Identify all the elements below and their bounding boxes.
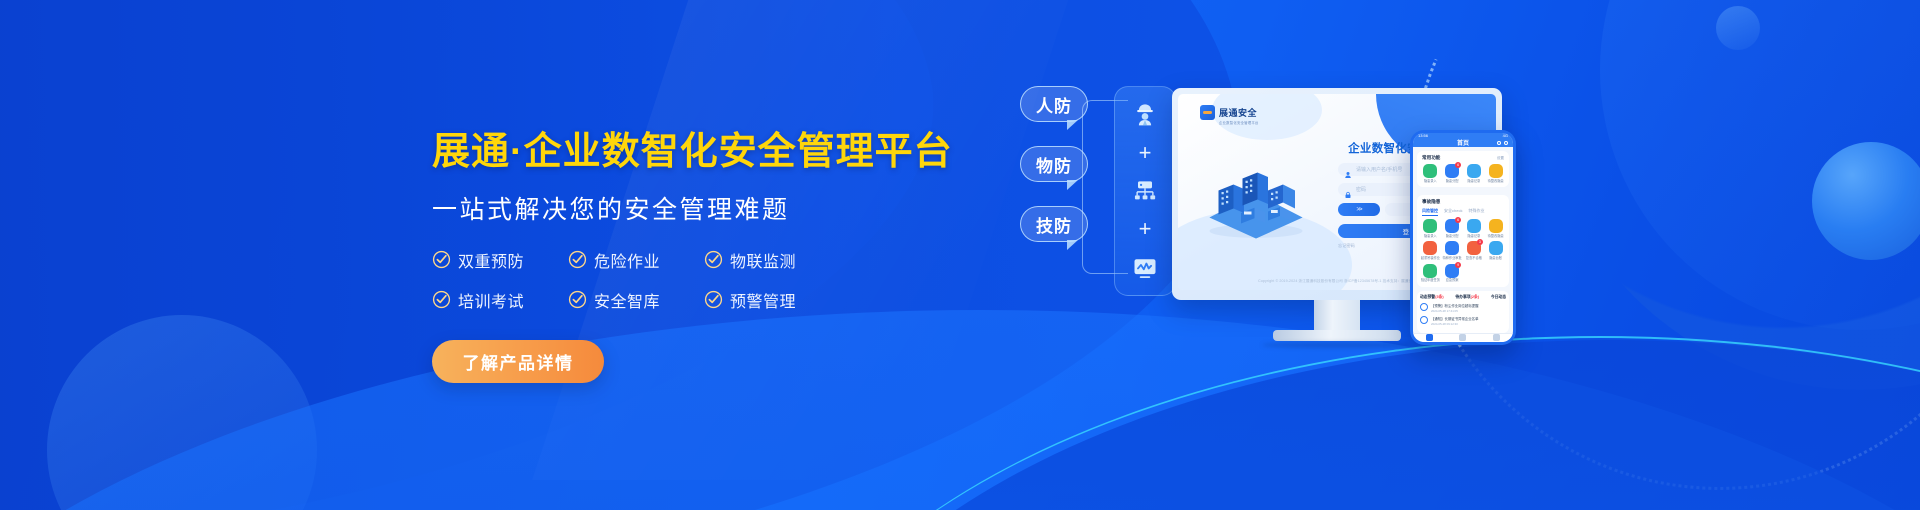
activity-list-card: 动态预警(3条) 待办事项(2条) 今日动态 【预警】粉尘作业岗位超标提醒 20… bbox=[1417, 291, 1509, 333]
feature-label: 物联监测 bbox=[730, 248, 796, 272]
learn-more-button[interactable]: 了解产品详情 bbox=[432, 340, 604, 383]
phone-nav-title: 首页 bbox=[1457, 138, 1469, 147]
app-item-label: 复查不合格 bbox=[1466, 257, 1482, 261]
activity-tab-todo[interactable]: 待办事项(2条) bbox=[1455, 295, 1479, 300]
lock-icon bbox=[1344, 186, 1352, 194]
hero-title: 展通·企业数智化安全管理平台 bbox=[432, 132, 972, 174]
monitor-base bbox=[1273, 330, 1401, 341]
pillar-plus-icon: + bbox=[1139, 142, 1152, 164]
hero-subtitle: 一站式解决您的安全管理难题 bbox=[432, 190, 972, 226]
app-item-label: 应急预案 bbox=[1446, 279, 1459, 283]
status-ring-icon bbox=[1420, 316, 1428, 324]
emergency-plan-icon: 9 bbox=[1445, 264, 1459, 278]
hazard-tabs: 风险管控 安全check 特殊作业 bbox=[1420, 208, 1506, 216]
crane-icon bbox=[1423, 241, 1437, 255]
feature-item: 双重预防 bbox=[432, 248, 560, 272]
feature-label: 培训考试 bbox=[458, 288, 524, 312]
app-grid-item[interactable]: 隐患录入 bbox=[1420, 219, 1441, 238]
tab-profile[interactable]: 我的 bbox=[1493, 334, 1500, 342]
app-grid-item[interactable]: 9 应急预案 bbox=[1442, 264, 1463, 283]
list-item-text: 【预警】粉尘作业岗位超标提醒 2024-05-28 17:41:05 bbox=[1431, 303, 1478, 313]
common-functions-header: 常用功能 设置 bbox=[1420, 155, 1506, 161]
hazard-title: 事故隐患 bbox=[1422, 199, 1440, 205]
app-grid-item[interactable]: 隐患台账 bbox=[1485, 241, 1506, 260]
pillar-icon-column: + + bbox=[1114, 86, 1176, 296]
app-item-label: 隐患台账 bbox=[1489, 257, 1502, 261]
phone-screen: 13:56 4G 首页 常用功能 设置 bbox=[1413, 133, 1513, 342]
edit-icon bbox=[1423, 219, 1437, 233]
recheck-icon: 3 bbox=[1467, 241, 1481, 255]
app-item-label: 隐患记录 bbox=[1468, 180, 1481, 184]
list-item-time: 2024-05-28 09:12:30 bbox=[1431, 322, 1478, 326]
feature-label: 危险作业 bbox=[594, 248, 660, 272]
warning-icon bbox=[1489, 219, 1503, 233]
tab-safety-check[interactable]: 安全check bbox=[1444, 208, 1462, 216]
app-grid-item[interactable]: 特种作业审批 bbox=[1442, 241, 1463, 260]
hero-banner: 展通·企业数智化安全管理平台 一站式解决您的安全管理难题 双重预防 危险作业 物… bbox=[0, 0, 1920, 510]
username-placeholder: 请输入用户名/手机号 bbox=[1356, 166, 1402, 173]
mobile-phone-mockup: 13:56 4G 首页 常用功能 设置 bbox=[1410, 130, 1516, 345]
list-item-title: 【预警】粉尘作业岗位超标提醒 bbox=[1431, 303, 1478, 308]
feature-item: 物联监测 bbox=[704, 248, 832, 272]
hazard-grid: 隐患录入 6 隐患分配 隐患记录 bbox=[1420, 219, 1506, 283]
phone-nav-actions[interactable] bbox=[1497, 141, 1508, 145]
list-item-time: 2024-05-28 17:41:05 bbox=[1431, 309, 1478, 313]
tab-message[interactable]: 消息 bbox=[1459, 334, 1466, 342]
app-grid-item[interactable]: 隐患记录 bbox=[1464, 219, 1485, 238]
platform-logo: 展通安全 企业数智化安全管理平台 bbox=[1200, 105, 1257, 120]
forgot-password-link[interactable]: 忘记密码 bbox=[1338, 243, 1355, 249]
app-grid-item[interactable]: 3 复查不合格 bbox=[1464, 241, 1485, 260]
app-item-label: 待整改隐患 bbox=[1488, 235, 1504, 239]
feature-label: 双重预防 bbox=[458, 248, 524, 272]
badge-count: 6 bbox=[1455, 217, 1461, 223]
logo-tagline: 企业数智化安全管理平台 bbox=[1219, 120, 1259, 125]
app-item-label: 隐患分配 bbox=[1446, 235, 1459, 239]
distribute-icon: 6 bbox=[1445, 164, 1459, 178]
app-item-label: 待整改隐患 bbox=[1488, 180, 1504, 184]
common-functions-grid: 隐患录入 6 隐患分配 隐患记录 bbox=[1420, 164, 1506, 183]
decorative-sphere-small bbox=[1716, 6, 1760, 50]
app-grid-item[interactable]: 验证年度任务 bbox=[1420, 264, 1441, 283]
app-item-label: 起重吊装作业 bbox=[1421, 257, 1440, 261]
app-item-label: 隐患录入 bbox=[1424, 235, 1437, 239]
hero-copy-block: 展通·企业数智化安全管理平台 一站式解决您的安全管理难题 双重预防 危险作业 物… bbox=[432, 132, 972, 383]
worker-helmet-icon bbox=[1128, 99, 1162, 129]
warning-icon bbox=[1489, 164, 1503, 178]
list-item[interactable]: 【预警】粉尘作业岗位超标提醒 2024-05-28 17:41:05 bbox=[1420, 303, 1506, 313]
tab-special-work[interactable]: 特殊作业 bbox=[1468, 208, 1484, 216]
app-item-label: 隐患记录 bbox=[1468, 235, 1481, 239]
app-grid-item[interactable]: 待整改隐患 bbox=[1485, 219, 1506, 238]
check-circle-icon bbox=[568, 250, 587, 269]
activity-tab-today[interactable]: 今日动态 bbox=[1491, 295, 1506, 300]
check-circle-icon bbox=[432, 250, 451, 269]
monitor-neck bbox=[1314, 300, 1360, 330]
app-item-label: 隐患录入 bbox=[1424, 180, 1437, 184]
check-circle-icon bbox=[432, 290, 451, 309]
logo-mark-icon bbox=[1200, 105, 1215, 120]
password-placeholder: 密码 bbox=[1356, 186, 1366, 193]
list-item[interactable]: 【通知】长期证书异常企业名单 2024-05-28 09:12:30 bbox=[1420, 316, 1506, 326]
list-item-title: 【通知】长期证书异常企业名单 bbox=[1431, 316, 1478, 321]
home-icon bbox=[1426, 334, 1433, 341]
verify-icon bbox=[1423, 264, 1437, 278]
user-icon bbox=[1344, 166, 1352, 174]
app-item-label: 特种作业审批 bbox=[1443, 257, 1462, 261]
pillar-label-wufang: 物防 bbox=[1020, 146, 1088, 182]
feature-item: 培训考试 bbox=[432, 288, 560, 312]
user-icon bbox=[1493, 334, 1500, 341]
common-functions-title: 常用功能 bbox=[1422, 155, 1440, 161]
app-grid-item[interactable]: 隐患记录 bbox=[1464, 164, 1485, 183]
captcha-slider-label: >> bbox=[1356, 207, 1361, 213]
status-ring-icon bbox=[1420, 303, 1428, 311]
record-icon bbox=[1467, 164, 1481, 178]
tab-risk-control[interactable]: 风险管控 bbox=[1422, 208, 1438, 216]
common-functions-card: 常用功能 设置 隐患录入 6 隐患分配 bbox=[1417, 151, 1509, 187]
app-grid-item[interactable]: 起重吊装作业 bbox=[1420, 241, 1441, 260]
distribute-icon: 6 bbox=[1445, 219, 1459, 233]
feature-list: 双重预防 危险作业 物联监测 培训考试 bbox=[432, 248, 972, 312]
feature-label: 预警管理 bbox=[730, 288, 796, 312]
gear-icon[interactable] bbox=[1504, 141, 1508, 145]
approval-icon bbox=[1445, 241, 1459, 255]
tab-home[interactable]: 首页 bbox=[1426, 334, 1433, 342]
app-grid-item[interactable]: 6 隐患分配 bbox=[1442, 164, 1463, 183]
phone-tab-bar: 首页 消息 我的 bbox=[1413, 333, 1513, 342]
pillar-label-renfang: 人防 bbox=[1020, 86, 1088, 122]
app-grid-item[interactable]: 6 隐患分配 bbox=[1442, 219, 1463, 238]
pillar-plus-icon-2: + bbox=[1139, 218, 1152, 240]
message-icon bbox=[1459, 334, 1466, 341]
phone-nav-bar: 首页 bbox=[1413, 138, 1513, 147]
hazard-card: 事故隐患 风险管控 安全check 特殊作业 隐患录入 bbox=[1417, 195, 1509, 287]
feature-label: 安全智库 bbox=[594, 288, 660, 312]
badge-count: 3 bbox=[1477, 239, 1483, 245]
edit-icon bbox=[1423, 164, 1437, 178]
check-circle-icon bbox=[704, 250, 723, 269]
list-item-text: 【通知】长期证书异常企业名单 2024-05-28 09:12:30 bbox=[1431, 316, 1478, 326]
monitor-base-shadow bbox=[1262, 342, 1412, 348]
device-network-icon bbox=[1128, 176, 1162, 206]
pillar-label-jifang: 技防 bbox=[1020, 206, 1088, 242]
captcha-slider-handle[interactable]: >> bbox=[1338, 203, 1380, 216]
app-item-label: 验证年度任务 bbox=[1421, 279, 1440, 283]
activity-list-header: 动态预警(3条) 待办事项(2条) 今日动态 bbox=[1420, 295, 1506, 300]
app-item-label: 隐患分配 bbox=[1446, 180, 1459, 184]
city-illustration bbox=[1196, 168, 1316, 240]
record-icon bbox=[1467, 219, 1481, 233]
scan-icon[interactable] bbox=[1497, 141, 1501, 145]
common-functions-action[interactable]: 设置 bbox=[1497, 156, 1504, 161]
app-grid-item[interactable]: 隐患录入 bbox=[1420, 164, 1441, 183]
product-illustration: 人防 物防 技防 + bbox=[1020, 56, 1920, 456]
logo-wordmark: 展通安全 bbox=[1219, 106, 1257, 119]
badge-count: 6 bbox=[1455, 162, 1461, 168]
activity-tab-warning[interactable]: 动态预警(3条) bbox=[1420, 295, 1444, 300]
monitor-waveform-icon bbox=[1128, 253, 1162, 283]
feature-item: 预警管理 bbox=[704, 288, 832, 312]
ledger-icon bbox=[1489, 241, 1503, 255]
hazard-header: 事故隐患 bbox=[1420, 199, 1506, 205]
check-circle-icon bbox=[704, 290, 723, 309]
feature-item: 安全智库 bbox=[568, 288, 696, 312]
app-grid-item[interactable]: 待整改隐患 bbox=[1485, 164, 1506, 183]
check-circle-icon bbox=[568, 290, 587, 309]
badge-count: 9 bbox=[1455, 262, 1461, 268]
feature-item: 危险作业 bbox=[568, 248, 696, 272]
